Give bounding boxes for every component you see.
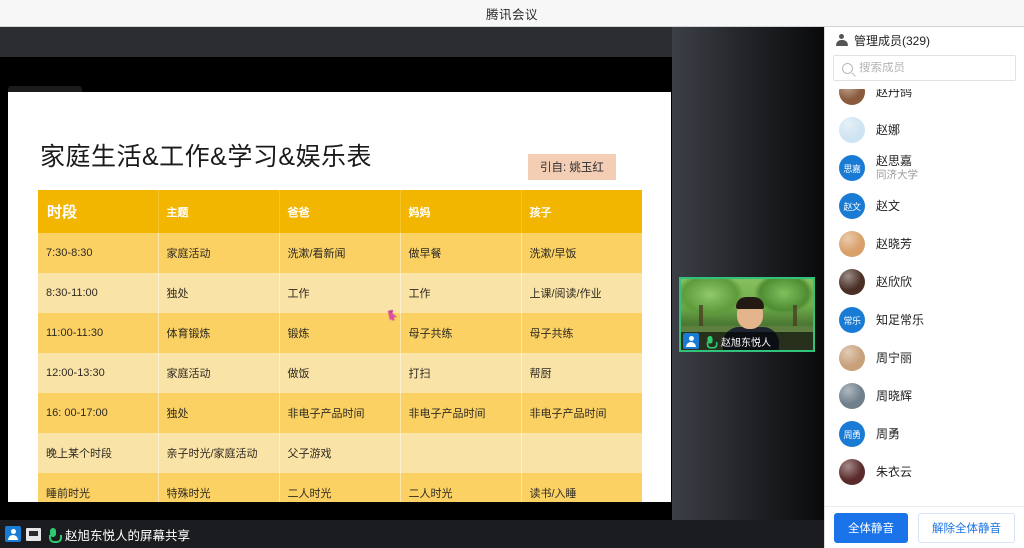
table-header-cell: 孩子 bbox=[521, 190, 642, 233]
table-cell: 亲子时光/家庭活动 bbox=[158, 433, 279, 473]
table-cell: 上课/阅读/作业 bbox=[521, 273, 642, 313]
participant-text: 周勇 bbox=[876, 427, 900, 442]
table-header-cell: 主题 bbox=[158, 190, 279, 233]
table-header-cell: 爸爸 bbox=[279, 190, 400, 233]
participant-row[interactable]: 朱衣云 bbox=[825, 453, 1024, 491]
table-cell: 二人时光 bbox=[400, 473, 521, 502]
participant-name: 周勇 bbox=[876, 427, 900, 442]
avatar: 赵文 bbox=[839, 193, 865, 219]
person-icon bbox=[5, 526, 21, 542]
table-cell: 7:30-8:30 bbox=[38, 233, 158, 273]
avatar: 常乐 bbox=[839, 307, 865, 333]
participant-text: 周宁丽 bbox=[876, 351, 912, 366]
table-row: 11:00-11:30体育锻炼锻炼母子共练母子共练 bbox=[38, 313, 642, 353]
participant-name: 赵文 bbox=[876, 199, 900, 214]
table-cell: 做早餐 bbox=[400, 233, 521, 273]
table-header-row: 时段主题爸爸妈妈孩子 bbox=[38, 190, 642, 233]
table-cell: 8:30-11:00 bbox=[38, 273, 158, 313]
participant-text: 周晓辉 bbox=[876, 389, 912, 404]
unmute-all-button[interactable]: 解除全体静音 bbox=[918, 513, 1015, 543]
avatar: 思嘉 bbox=[839, 155, 865, 181]
table-cell: 12:00-13:30 bbox=[38, 353, 158, 393]
microphone-icon[interactable] bbox=[704, 335, 716, 348]
table-cell: 父子游戏 bbox=[279, 433, 400, 473]
schedule-table: 时段主题爸爸妈妈孩子 7:30-8:30家庭活动洗漱/看新闻做早餐洗漱/早饭8:… bbox=[38, 190, 642, 502]
table-cell: 洗漱/早饭 bbox=[521, 233, 642, 273]
selfview-name-bar: 赵旭东悦人 bbox=[681, 332, 813, 350]
table-row: 8:30-11:00独处工作工作上课/阅读/作业 bbox=[38, 273, 642, 313]
avatar bbox=[839, 345, 865, 371]
participant-text: 朱衣云 bbox=[876, 465, 912, 480]
avatar bbox=[839, 269, 865, 295]
participant-row[interactable]: 赵欣欣 bbox=[825, 263, 1024, 301]
screen-share-icon bbox=[26, 528, 41, 541]
shared-screen-content: 家庭生活&工作&学习&娱乐表 引自: 姚玉红 时段主题爸爸妈妈孩子 7:30-8… bbox=[8, 92, 671, 502]
participant-name: 赵欣欣 bbox=[876, 275, 912, 290]
slide-title: 家庭生活&工作&学习&娱乐表 bbox=[40, 137, 372, 173]
participants-panel-footer: 全体静音 解除全体静音 bbox=[825, 506, 1024, 548]
participant-row[interactable]: 周晓辉 bbox=[825, 377, 1024, 415]
meeting-stage: 录制中 家庭生活&工作&学习&娱乐表 引自: 姚玉红 时段主题爸爸妈妈孩子 7:… bbox=[0, 27, 824, 548]
stage-top-strip bbox=[0, 27, 672, 57]
participant-name: 周晓辉 bbox=[876, 389, 912, 404]
search-icon bbox=[842, 63, 853, 74]
table-cell: 打扫 bbox=[400, 353, 521, 393]
participant-text: 赵思嘉同济大学 bbox=[876, 154, 918, 182]
table-cell: 工作 bbox=[279, 273, 400, 313]
participant-name: 朱衣云 bbox=[876, 465, 912, 480]
window-titlebar: 腾讯会议 bbox=[0, 0, 1024, 27]
table-cell: 锻炼 bbox=[279, 313, 400, 353]
window-title: 腾讯会议 bbox=[486, 4, 538, 23]
participant-name: 赵晓芳 bbox=[876, 237, 912, 252]
participants-search-wrapper bbox=[825, 53, 1024, 89]
screen-share-status-bar: 赵旭东悦人的屏幕共享 bbox=[0, 520, 824, 548]
microphone-icon[interactable] bbox=[46, 527, 60, 542]
table-cell: 二人时光 bbox=[279, 473, 400, 502]
table-row: 晚上某个时段亲子时光/家庭活动父子游戏 bbox=[38, 433, 642, 473]
participant-name: 周宁丽 bbox=[876, 351, 912, 366]
table-cell bbox=[400, 433, 521, 473]
table-row: 12:00-13:30家庭活动做饭打扫帮厨 bbox=[38, 353, 642, 393]
table-cell: 晚上某个时段 bbox=[38, 433, 158, 473]
avatar bbox=[839, 459, 865, 485]
table-cell: 独处 bbox=[158, 393, 279, 433]
avatar: 周勇 bbox=[839, 421, 865, 447]
avatar bbox=[839, 89, 865, 105]
table-row: 16: 00-17:00独处非电子产品时间非电子产品时间非电子产品时间 bbox=[38, 393, 642, 433]
participants-search-box[interactable] bbox=[833, 55, 1016, 81]
table-cell: 做饭 bbox=[279, 353, 400, 393]
slide-citation: 引自: 姚玉红 bbox=[528, 154, 616, 180]
table-cell: 睡前时光 bbox=[38, 473, 158, 502]
table-cell: 帮厨 bbox=[521, 353, 642, 393]
participant-name: 赵娜 bbox=[876, 123, 900, 138]
table-cell: 独处 bbox=[158, 273, 279, 313]
avatar bbox=[839, 117, 865, 143]
screen-share-label: 赵旭东悦人的屏幕共享 bbox=[65, 525, 190, 544]
participant-name: 赵思嘉 bbox=[876, 154, 918, 169]
table-row: 睡前时光特殊时光二人时光二人时光读书/入睡 bbox=[38, 473, 642, 502]
meeting-window: 腾讯会议 录制中 家庭生活&工作&学习&娱乐表 引自: 姚玉红 时段主题爸爸妈妈… bbox=[0, 0, 1024, 548]
table-cell: 非电子产品时间 bbox=[521, 393, 642, 433]
table-cell: 特殊时光 bbox=[158, 473, 279, 502]
participant-row[interactable]: 赵文赵文 bbox=[825, 187, 1024, 225]
participant-row[interactable]: 周勇周勇 bbox=[825, 415, 1024, 453]
participant-name: 知足常乐 bbox=[876, 313, 924, 328]
participant-text: 知足常乐 bbox=[876, 313, 924, 328]
participant-text: 赵丹鸽 bbox=[876, 89, 912, 100]
table-cell: 家庭活动 bbox=[158, 353, 279, 393]
participant-row[interactable]: 常乐知足常乐 bbox=[825, 301, 1024, 339]
avatar bbox=[839, 231, 865, 257]
participants-panel: 管理成员(329) 赵丹鸽赵娜思嘉赵思嘉同济大学赵文赵文赵晓芳赵欣欣常乐知足常乐… bbox=[824, 27, 1024, 548]
participant-row[interactable]: 赵晓芳 bbox=[825, 225, 1024, 263]
participant-row[interactable]: 赵丹鸽 bbox=[825, 89, 1024, 111]
table-cell: 工作 bbox=[400, 273, 521, 313]
table-cell: 非电子产品时间 bbox=[400, 393, 521, 433]
search-input[interactable] bbox=[859, 62, 1007, 74]
people-icon bbox=[835, 34, 848, 47]
participants-list[interactable]: 赵丹鸽赵娜思嘉赵思嘉同济大学赵文赵文赵晓芳赵欣欣常乐知足常乐周宁丽周晓辉周勇周勇… bbox=[825, 89, 1024, 506]
table-cell: 体育锻炼 bbox=[158, 313, 279, 353]
selfview-person-hair bbox=[736, 297, 764, 309]
participant-row[interactable]: 思嘉赵思嘉同济大学 bbox=[825, 149, 1024, 187]
selfview-name: 赵旭东悦人 bbox=[721, 334, 771, 349]
table-row: 7:30-8:30家庭活动洗漱/看新闻做早餐洗漱/早饭 bbox=[38, 233, 642, 273]
avatar bbox=[839, 383, 865, 409]
participant-text: 赵文 bbox=[876, 199, 900, 214]
participant-row[interactable]: 周宁丽 bbox=[825, 339, 1024, 377]
person-icon bbox=[683, 333, 699, 349]
table-header-cell: 时段 bbox=[38, 190, 158, 233]
table-cell: 洗漱/看新闻 bbox=[279, 233, 400, 273]
participants-panel-title: 管理成员(329) bbox=[854, 32, 930, 49]
table-cell: 家庭活动 bbox=[158, 233, 279, 273]
table-cell: 11:00-11:30 bbox=[38, 313, 158, 353]
table-cell: 16: 00-17:00 bbox=[38, 393, 158, 433]
mute-all-button[interactable]: 全体静音 bbox=[834, 513, 908, 543]
table-cell: 母子共练 bbox=[400, 313, 521, 353]
participants-panel-header: 管理成员(329) bbox=[825, 27, 1024, 53]
participant-org: 同济大学 bbox=[876, 169, 918, 182]
table-header-cell: 妈妈 bbox=[400, 190, 521, 233]
table-cell: 母子共练 bbox=[521, 313, 642, 353]
table-cell: 非电子产品时间 bbox=[279, 393, 400, 433]
participant-text: 赵娜 bbox=[876, 123, 900, 138]
participant-row[interactable]: 赵娜 bbox=[825, 111, 1024, 149]
participant-text: 赵欣欣 bbox=[876, 275, 912, 290]
table-cell: 读书/入睡 bbox=[521, 473, 642, 502]
table-cell bbox=[521, 433, 642, 473]
participant-text: 赵晓芳 bbox=[876, 237, 912, 252]
participant-name: 赵丹鸽 bbox=[876, 89, 912, 100]
selfview-video-tile[interactable]: 赵旭东悦人 bbox=[679, 277, 815, 352]
